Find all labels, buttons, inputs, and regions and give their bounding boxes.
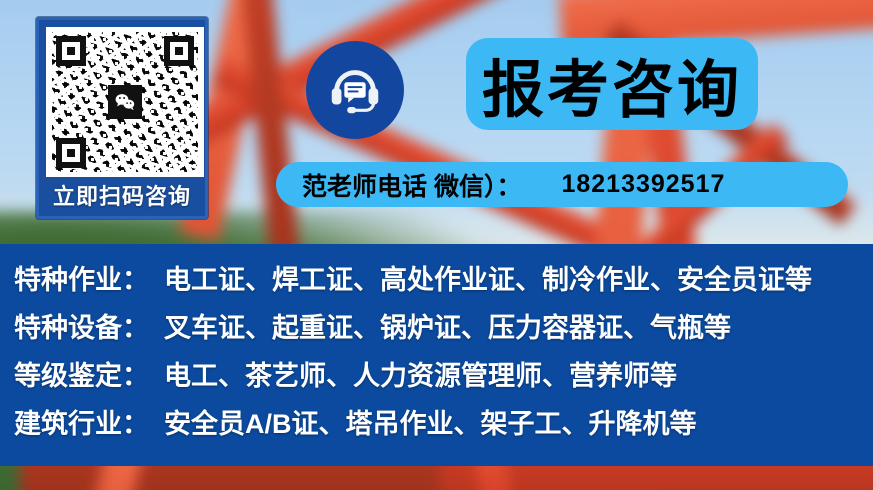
headset-support-icon[interactable] xyxy=(306,41,404,139)
title-pill: 报考咨询 xyxy=(466,38,758,130)
contact-label: 范老师电话 微信）： xyxy=(302,167,521,203)
qr-finder-bottom-left xyxy=(56,138,86,168)
qr-code-frame xyxy=(46,27,204,177)
service-value: 叉车证、起重证、锅炉证、压力容器证、气瓶等 xyxy=(164,306,731,345)
contact-phone-number[interactable]: 18213392517 xyxy=(561,170,725,199)
qr-caption: 立即扫码咨询 xyxy=(46,177,198,217)
service-label: 特种设备： xyxy=(14,306,164,345)
service-value: 安全员A/B证、塔吊作业、架子工、升降机等 xyxy=(164,402,697,441)
service-value: 电工、茶艺师、人力资源管理师、营养师等 xyxy=(164,354,677,393)
service-value: 电工证、焊工证、高处作业证、制冷作业、安全员证等 xyxy=(164,258,812,297)
photo-scene-bottom xyxy=(0,466,873,490)
qr-code-image xyxy=(52,32,198,172)
qr-finder-top-left xyxy=(56,36,86,66)
qr-finder-top-right xyxy=(164,36,194,66)
service-row-special-equipment: 特种设备： 叉车证、起重证、锅炉证、压力容器证、气瓶等 xyxy=(14,306,873,354)
qr-panel[interactable]: 立即扫码咨询 xyxy=(36,17,208,219)
contact-pill[interactable]: 范老师电话 微信）： 18213392517 xyxy=(276,162,848,207)
services-block: 特种作业： 电工证、焊工证、高处作业证、制冷作业、安全员证等 特种设备： 叉车证… xyxy=(0,244,873,466)
service-row-construction-industry: 建筑行业： 安全员A/B证、塔吊作业、架子工、升降机等 xyxy=(14,402,873,450)
service-label: 建筑行业： xyxy=(14,402,164,441)
service-row-special-operations: 特种作业： 电工证、焊工证、高处作业证、制冷作业、安全员证等 xyxy=(14,258,873,306)
service-label: 特种作业： xyxy=(14,258,164,297)
background-photo-bottom xyxy=(0,466,873,490)
promo-poster: 立即扫码咨询 报考咨询 范老师电话 微信）： 18213392517 特 xyxy=(0,0,873,490)
service-row-grade-appraisal: 等级鉴定： 电工、茶艺师、人力资源管理师、营养师等 xyxy=(14,354,873,402)
wechat-icon xyxy=(108,85,142,119)
service-label: 等级鉴定： xyxy=(14,354,164,393)
page-title: 报考咨询 xyxy=(482,39,742,129)
ground-structure xyxy=(20,466,440,490)
